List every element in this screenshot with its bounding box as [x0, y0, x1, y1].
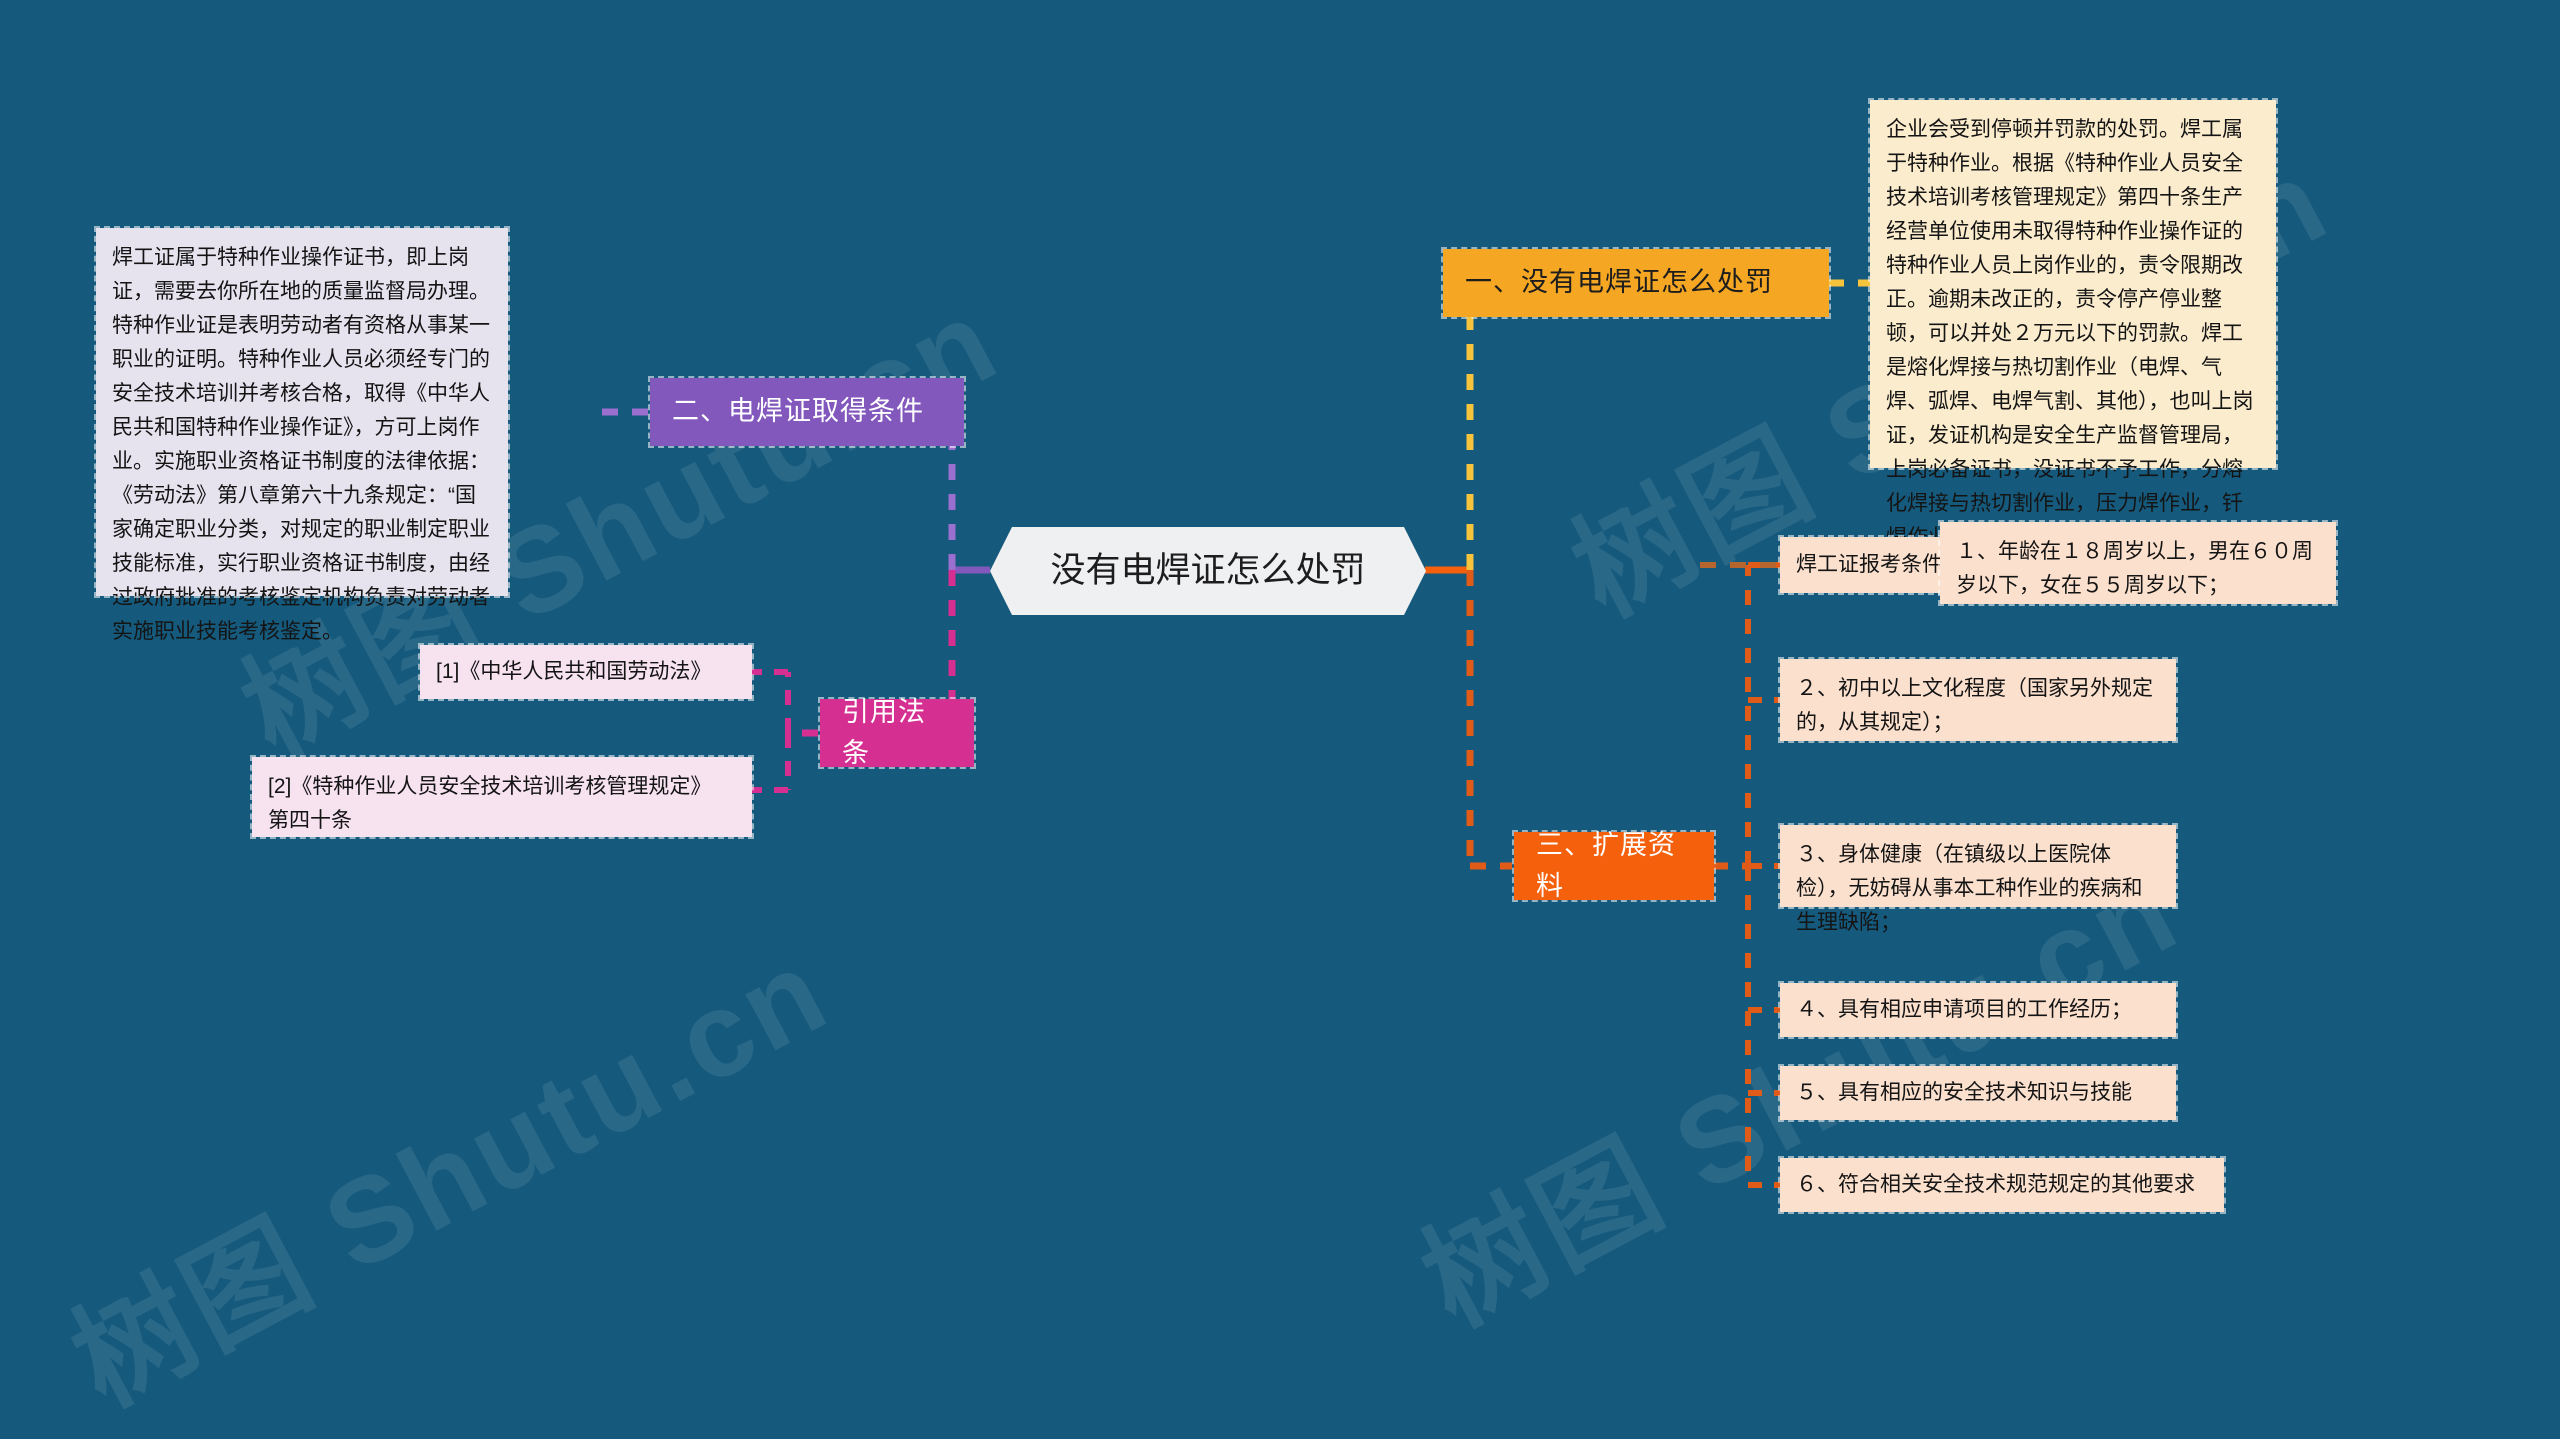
leaf-punishment-detail[interactable]: 企业会受到停顿并罚款的处罚。焊工属于特种作业。根据《特种作业人员安全技术培训考核… [1870, 100, 2276, 468]
branch-extended[interactable]: 三、扩展资料 [1514, 832, 1714, 900]
leaf-cond-3[interactable]: ３、身体健康（在镇级以上医院体检），无妨碍从事本工种作业的疾病和生理缺陷； [1780, 825, 2176, 907]
leaf-requirements-detail[interactable]: 焊工证属于特种作业操作证书，即上岗证，需要去你所在地的质量监督局办理。特种作业证… [96, 228, 508, 596]
leaf-citation-1[interactable]: [1]《中华人民共和国劳动法》 [420, 645, 752, 699]
central-topic[interactable]: 没有电焊证怎么处罚 [990, 527, 1426, 615]
mindmap-canvas: 树图 Shutu.cn 树图 Shutu.cn 树图 Shutu.cn 树图 S… [0, 0, 2560, 1285]
leaf-cond-1[interactable]: １、年龄在１８周岁以上，男在６０周岁以下，女在５５周岁以下； [1940, 522, 2336, 604]
leaf-cond-2[interactable]: ２、初中以上文化程度（国家另外规定的，从其规定）； [1780, 659, 2176, 741]
branch-requirements[interactable]: 二、电焊证取得条件 [650, 378, 964, 446]
branch-punishment[interactable]: 一、没有电焊证怎么处罚 [1443, 249, 1829, 317]
leaf-citation-2[interactable]: [2]《特种作业人员安全技术培训考核管理规定》 第四十条 [252, 757, 752, 837]
branch-citations[interactable]: 引用法条 [820, 699, 974, 767]
leaf-cond-4[interactable]: ４、具有相应申请项目的工作经历； [1780, 983, 2176, 1037]
leaf-cond-6[interactable]: ６、符合相关安全技术规范规定的其他要求 [1780, 1158, 2224, 1212]
leaf-cond-5[interactable]: ５、具有相应的安全技术知识与技能 [1780, 1066, 2176, 1120]
